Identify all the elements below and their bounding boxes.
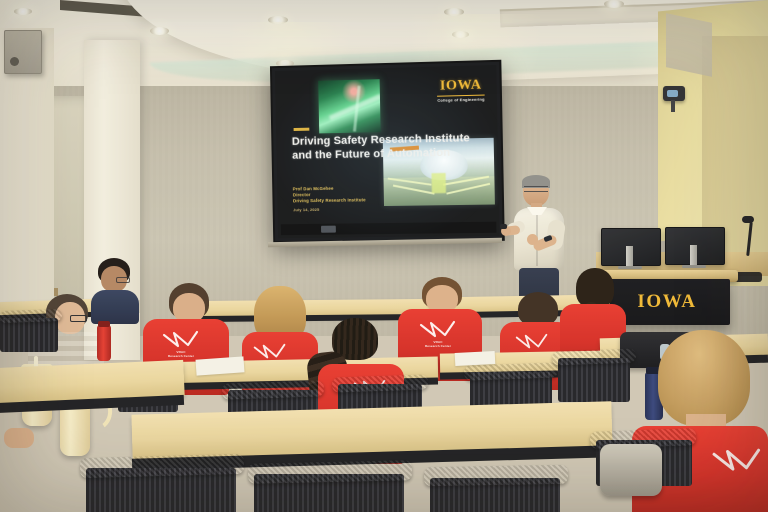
recessed-light-icon xyxy=(452,31,469,38)
camera-mount xyxy=(671,100,675,112)
slide-presenter-date: July 14, 2025 xyxy=(293,205,412,213)
slide-footer-logo-icon xyxy=(321,226,336,233)
slide-brand-lockup: IOWA College of Engineering xyxy=(437,77,485,102)
slide-presenter-block: Prof Dan McGehee Director Driving Safety… xyxy=(293,185,412,213)
floor-bag xyxy=(600,444,662,496)
slide-brand-subtitle: College of Engineering xyxy=(437,97,484,103)
night-driving-green-image xyxy=(318,79,380,133)
presentation-clicker xyxy=(500,224,507,229)
chair-cushion-foreground xyxy=(424,465,568,487)
slide-title: Driving Safety Research Institute and th… xyxy=(292,132,488,163)
lecture-hall-photo: Driving Safety Research Institute and th… xyxy=(0,0,768,512)
slide-presenter-org: Driving Safety Research Institute xyxy=(293,197,412,205)
red-water-bottle-cap xyxy=(98,321,110,327)
projection-screen: Driving Safety Research Institute and th… xyxy=(270,60,505,243)
simulator-beam xyxy=(432,173,446,193)
shirt-logo-line-2: Research Center xyxy=(161,355,201,359)
monitor-left-stand xyxy=(626,246,633,268)
monitor-right-stand xyxy=(690,245,697,267)
chair-cushion xyxy=(552,349,636,366)
student-row3-far-left-arm xyxy=(0,418,46,478)
printed-handout xyxy=(196,356,245,375)
slide-brand-wordmark: IOWA xyxy=(437,77,485,94)
slide-accent-dash xyxy=(294,128,310,131)
student-glasses-icon xyxy=(70,315,87,322)
ceiling-camera-icon xyxy=(663,86,685,101)
slide-bottom-bar xyxy=(281,222,497,236)
red-water-bottle xyxy=(97,325,111,361)
student-hair xyxy=(518,292,558,326)
presenter-hand-right xyxy=(527,234,538,245)
shirt-logo-line-2: Research Center xyxy=(418,345,458,349)
chair-cushion-foreground xyxy=(248,460,412,483)
chair-cushion xyxy=(0,309,62,323)
recessed-light-icon xyxy=(268,16,288,24)
wall-speaker-icon xyxy=(4,30,42,74)
student-glasses-icon xyxy=(116,277,130,283)
right-ceiling-panel xyxy=(666,13,712,77)
monitor-right-foot xyxy=(682,265,706,268)
recessed-light-icon xyxy=(604,0,624,8)
shirt-logo-text: VRAC Research Center xyxy=(418,341,458,348)
student-hand xyxy=(4,428,34,448)
recessed-light-icon xyxy=(14,8,32,15)
chair-back xyxy=(0,318,58,352)
presentation-slide: Driving Safety Research Institute and th… xyxy=(275,65,500,238)
recessed-light-icon xyxy=(150,27,169,35)
recessed-light-icon xyxy=(444,8,464,16)
student-hair xyxy=(658,330,750,426)
presenter-glasses-icon xyxy=(524,186,548,192)
shirt-logo-text: VRAC Research Center xyxy=(161,351,201,358)
